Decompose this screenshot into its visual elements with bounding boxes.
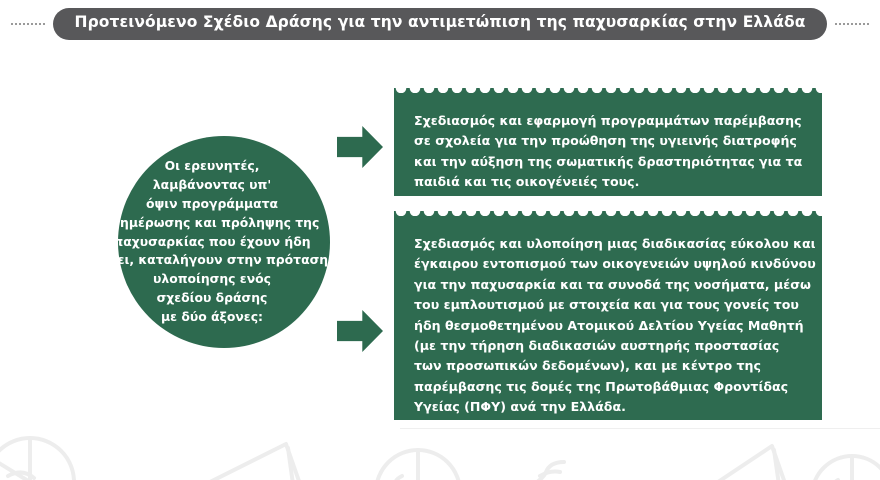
axis-two-line: Σχεδιασμός και υλοποίηση μιας διαδικασία… [414,234,802,254]
intro-circle: Οι ερευνητές, λαμβάνοντας υπ' όψιν προγρ… [118,136,330,348]
intro-circle-line: σχεδίου δράσης [94,289,330,308]
axis-two-card: Σχεδιασμός και υλοποίηση μιας διαδικασία… [394,216,822,420]
header: Προτεινόμενο Σχέδιο Δράσης για την αντιμ… [0,8,880,40]
axis-one-line: παιδιά και τις οικογένειές τους. [414,172,802,192]
intro-circle-line: γίνει, καταλήγουν στην πρόταση [94,251,330,270]
footer-hairline [400,428,880,429]
intro-circle-line: υλοποίησης ενός [94,270,330,289]
axis-two-line: ήδη θεσμοθετημένου Ατομικού Δελτίου Υγεί… [414,316,802,336]
axis-two-line: (με την τήρηση διαδικασιών αυστηρής προσ… [414,336,802,356]
axis-one-line: και την αύξηση της σωματικής δραστηριότη… [414,152,802,172]
axis-one-line: Σχεδιασμός και εφαρμογή προγραμμάτων παρ… [414,111,802,131]
axis-one-card: Σχεδιασμός και εφαρμογή προγραμμάτων παρ… [394,93,822,196]
axis-two-text: Σχεδιασμός και υλοποίηση μιας διαδικασία… [414,234,802,418]
page-title: Προτεινόμενο Σχέδιο Δράσης για την αντιμ… [53,8,828,40]
right-arrow-icon [337,310,383,352]
axis-two-line: έγκαιρου εντοπισμού των οικογενειών υψηλ… [414,254,802,274]
header-dash-right [835,23,869,25]
globe-outline-icon [376,450,460,480]
intro-circle-line: παχυσαρκίας που έχουν ήδη [94,233,330,252]
intro-circle-line: λαμβάνοντας υπ' [94,176,330,195]
book-outline-icon [130,444,300,480]
axis-two-line: του εμπλουτισμού με στοιχεία και για του… [414,295,802,315]
header-dash-left [11,23,45,25]
compass-outline-icon [812,456,880,480]
intro-circle-line: ενημέρωσης και πρόληψης της [94,214,330,233]
axis-two-line: Υγείας (ΠΦΥ) ανά την Ελλάδα. [414,397,802,417]
intro-circle-line: με δύο άξονες: [94,308,330,327]
footer-watermark [0,420,880,480]
axis-two-line: παρέμβασης τις δομές της Πρωτοβάθμιας Φρ… [414,377,802,397]
axis-one-text: Σχεδιασμός και εφαρμογή προγραμμάτων παρ… [414,111,802,193]
pie-chart-outline-icon [0,438,74,480]
intro-circle-text: Οι ερευνητές, λαμβάνοντας υπ' όψιν προγρ… [94,157,330,327]
right-arrow-icon [337,126,383,168]
axis-two-line: των προσωπικών δεδομένων), και με κέντρο… [414,356,802,376]
document-outline-icon [700,446,786,480]
axis-one-line: σε σχολεία για την προώθηση της υγιεινής… [414,131,802,151]
intro-circle-line: Οι ερευνητές, [94,157,330,176]
intro-circle-line: όψιν προγράμματα [94,195,330,214]
axis-two-line: για την παχυσαρκία και τα συνοδά της νοσ… [414,275,802,295]
leaf-outline-icon [516,462,564,480]
